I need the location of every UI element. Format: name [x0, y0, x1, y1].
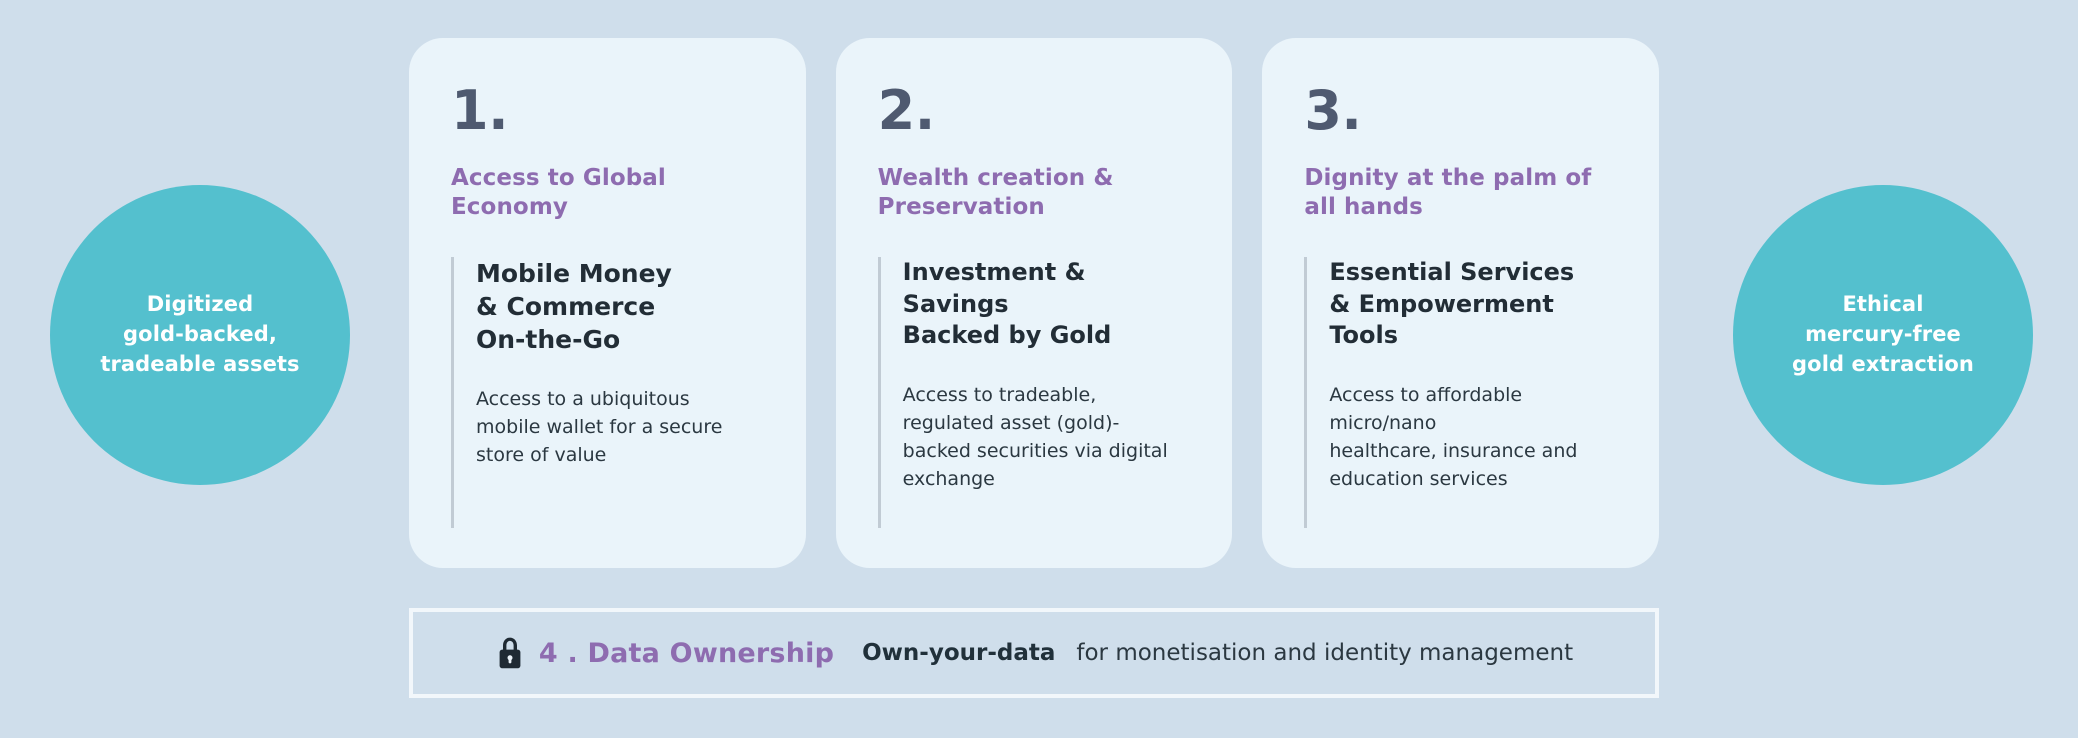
card-title: Wealth creation & Preservation — [878, 164, 1191, 223]
left-circle-badge: Digitized gold-backed, tradeable assets — [50, 185, 350, 485]
data-ownership-banner[interactable]: 4 . Data Ownership Own-your-data for mon… — [409, 608, 1659, 698]
lock-icon — [495, 636, 525, 670]
card-title: Access to Global Economy — [451, 164, 764, 223]
card-number: 2. — [878, 84, 1191, 138]
card-subtitle: Essential Services & Empowerment Tools — [1329, 257, 1617, 352]
card-title: Dignity at the palm of all hands — [1304, 164, 1617, 223]
card-number: 1. — [451, 84, 764, 138]
card-subtitle: Investment & Savings Backed by Gold — [903, 257, 1191, 352]
card-subtitle: Mobile Money & Commerce On-the-Go — [476, 257, 764, 356]
card-body: Investment & Savings Backed by Gold Acce… — [878, 257, 1191, 528]
card-description: Access to affordable micro/nano healthca… — [1329, 382, 1617, 494]
banner-strong-text: Own-your-data — [862, 640, 1055, 666]
card-dignity-at-the-palm-of-all-hands[interactable]: 3. Dignity at the palm of all hands Esse… — [1262, 38, 1659, 568]
card-access-to-global-economy[interactable]: 1. Access to Global Economy Mobile Money… — [409, 38, 806, 568]
card-body: Mobile Money & Commerce On-the-Go Access… — [451, 257, 764, 528]
cards-row: 1. Access to Global Economy Mobile Money… — [409, 38, 1659, 568]
banner-rest-text: for monetisation and identity management — [1076, 640, 1573, 666]
right-circle-badge: Ethical mercury-free gold extraction — [1733, 185, 2033, 485]
card-number: 3. — [1304, 84, 1617, 138]
card-body: Essential Services & Empowerment Tools A… — [1304, 257, 1617, 528]
banner-content: 4 . Data Ownership Own-your-data for mon… — [495, 636, 1573, 670]
left-circle-label: Digitized gold-backed, tradeable assets — [74, 290, 325, 379]
card-description: Access to tradeable, regulated asset (go… — [903, 382, 1191, 494]
card-wealth-creation-preservation[interactable]: 2. Wealth creation & Preservation Invest… — [836, 38, 1233, 568]
card-description: Access to a ubiquitous mobile wallet for… — [476, 386, 764, 470]
infographic-canvas: Digitized gold-backed, tradeable assets … — [0, 0, 2078, 738]
banner-number-label: 4 . Data Ownership — [539, 638, 834, 669]
right-circle-label: Ethical mercury-free gold extraction — [1766, 290, 2000, 379]
